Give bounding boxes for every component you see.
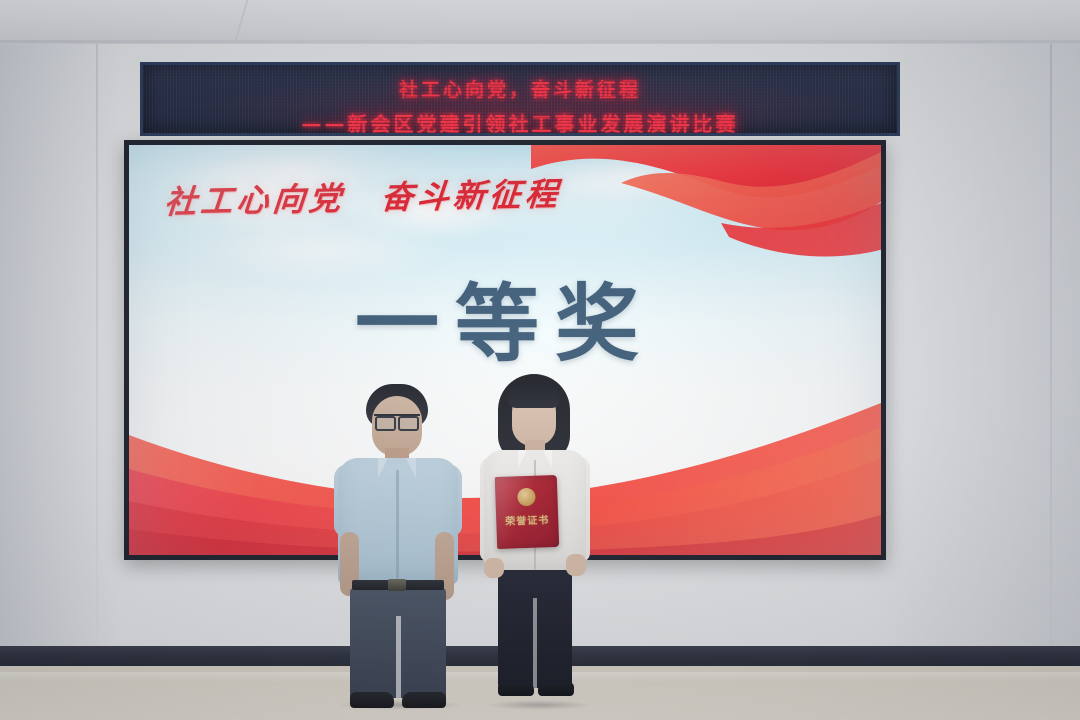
shirt-placket [396, 470, 399, 582]
wall-shading-left [0, 44, 120, 664]
led-banner-line-1: 社工心向党，奋斗新征程 [143, 75, 897, 102]
wall-corner-left [96, 44, 98, 644]
wall-shading-right [870, 44, 1080, 664]
award-recipient-woman: 荣誉证书 [476, 372, 594, 708]
collar-left [378, 458, 388, 478]
presenter-man [330, 384, 466, 708]
collar-left [518, 450, 527, 468]
cloud-icon [549, 149, 709, 205]
shoe-left [498, 682, 534, 696]
shoe-right [538, 682, 574, 696]
hand-left [484, 558, 504, 578]
leg-gap [533, 598, 537, 688]
led-banner: 社工心向党，奋斗新征程 ——新会区党建引领社工事业发展演讲比赛 [140, 62, 900, 136]
honor-certificate: 荣誉证书 [495, 475, 559, 549]
hand-right [566, 554, 586, 576]
award-ceremony-photo: 社工心向党，奋斗新征程 ——新会区党建引领社工事业发展演讲比赛 [0, 0, 1080, 720]
led-banner-line-2: ——新会区党建引领社工事业发展演讲比赛 [143, 108, 897, 136]
slide-title: 社工心向党 奋斗新征程 [163, 169, 564, 223]
collar-right [543, 450, 552, 468]
wall-corner-right [1050, 44, 1052, 654]
leg-gap [396, 616, 401, 698]
shoe-right [402, 692, 446, 708]
collar-right [406, 458, 416, 478]
slide-award-text: 一等奖 [129, 257, 881, 378]
hair-fringe [508, 384, 560, 408]
belt-buckle [388, 579, 406, 591]
shoe-left [350, 692, 394, 708]
ceiling-seam [0, 40, 1080, 43]
certificate-gloss [495, 475, 559, 549]
glasses-icon [374, 414, 420, 425]
